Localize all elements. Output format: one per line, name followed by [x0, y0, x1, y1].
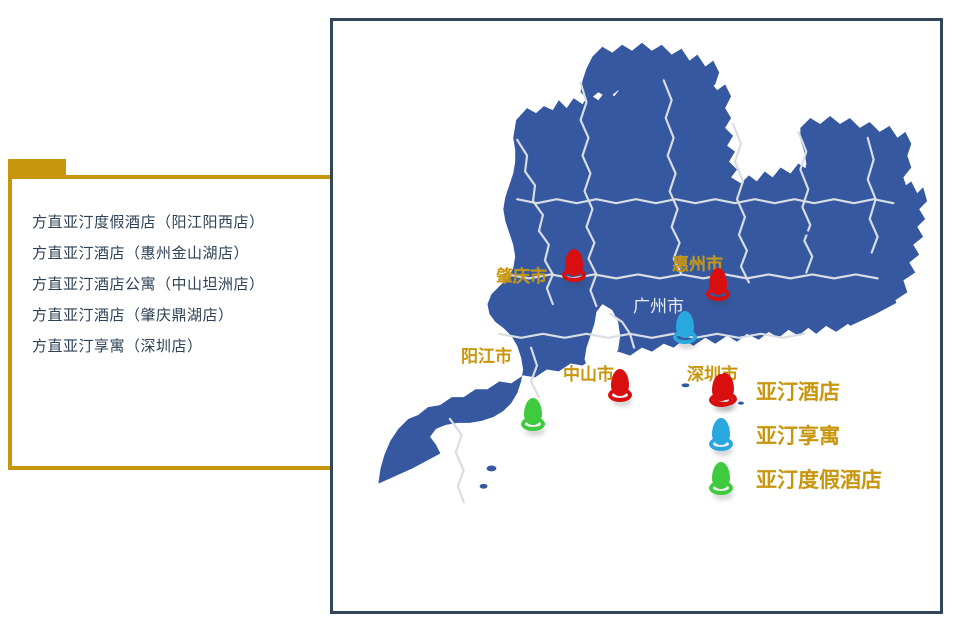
hotel-list-box: 方直亚汀度假酒店（阳江阳西店） 方直亚汀酒店（惠州金山湖店） 方直亚汀酒店公寓（… — [8, 175, 365, 470]
pin-ring — [706, 287, 730, 301]
map-frame: 肇庆市 惠州市 广州市 阳江市 中山市 深圳市 — [330, 18, 943, 614]
map-pin-icon-huizhou[interactable] — [705, 268, 731, 308]
legend-row: 亚汀享寓 — [708, 418, 938, 462]
legend-label-resort: 亚汀度假酒店 — [756, 464, 882, 494]
legend-row: 亚汀酒店 — [708, 374, 938, 418]
pin-ring — [608, 388, 632, 402]
list-item: 方直亚汀酒店公寓（中山坦洲店） — [32, 269, 351, 300]
pin-ring — [709, 481, 733, 495]
legend-row: 亚汀度假酒店 — [708, 462, 938, 506]
map-pin-icon-legend-red — [708, 374, 734, 414]
list-item: 方直亚汀享寓（深圳店） — [32, 331, 351, 362]
legend-label-hotel: 亚汀酒店 — [756, 376, 840, 406]
city-label-zhaoqing: 肇庆市 — [496, 262, 547, 287]
pin-ring — [709, 437, 733, 451]
pin-ring — [673, 330, 697, 344]
list-item: 方直亚汀酒店（肇庆鼎湖店） — [32, 300, 351, 331]
list-item: 方直亚汀度假酒店（阳江阳西店） — [32, 207, 351, 238]
map-pin-icon-legend-blue — [708, 418, 734, 458]
map-pin-icon-guangzhou[interactable] — [672, 311, 698, 351]
map-pin-icon-zhongshan[interactable] — [607, 369, 633, 409]
hotel-list-items: 方直亚汀度假酒店（阳江阳西店） 方直亚汀酒店（惠州金山湖店） 方直亚汀酒店公寓（… — [32, 207, 351, 362]
pin-ring — [562, 268, 586, 282]
list-item: 方直亚汀酒店（惠州金山湖店） — [32, 238, 351, 269]
map-legend: 亚汀酒店 亚汀享寓 亚汀度假酒店 — [708, 374, 938, 506]
pin-ring — [709, 393, 733, 407]
map-pin-icon-legend-green — [708, 462, 734, 502]
legend-label-apartment: 亚汀享寓 — [756, 420, 840, 450]
pin-ring — [521, 417, 545, 431]
map-pin-icon-zhaoqing[interactable] — [561, 249, 587, 289]
map-pin-icon-yangjiang[interactable] — [520, 398, 546, 438]
city-label-yangjiang: 阳江市 — [461, 342, 512, 367]
